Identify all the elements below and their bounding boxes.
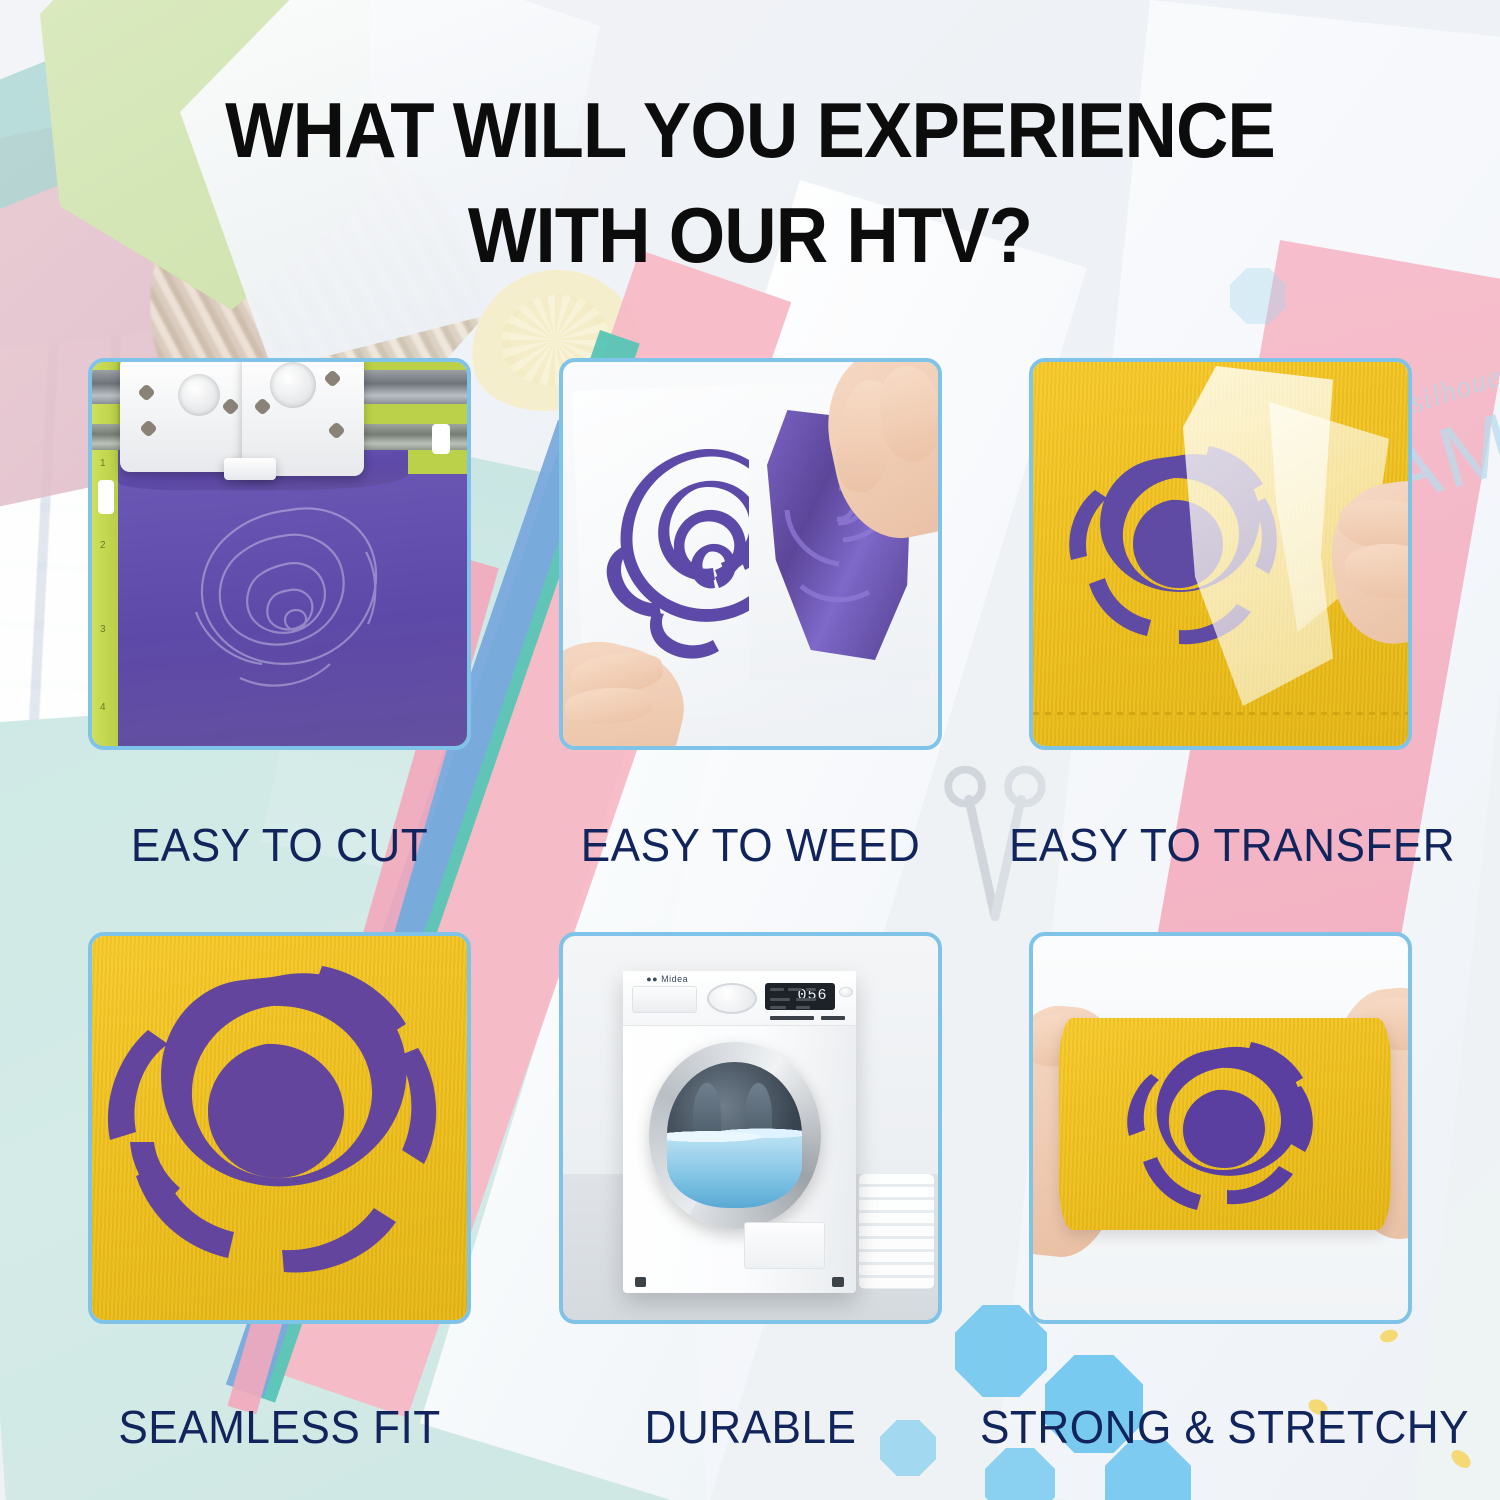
carriage-screw — [221, 397, 239, 415]
shirt-hem-stitching — [1033, 712, 1408, 715]
rail-clamp — [432, 424, 450, 454]
rose-design-closeup — [100, 952, 466, 1312]
program-dial — [707, 983, 758, 1014]
blade-holder-knob — [178, 374, 220, 416]
pen-holder-knob — [270, 362, 316, 408]
feature-image-seamless-fit — [88, 932, 471, 1324]
infographic-root: silhouette AM WHAT WILL YOU EXPERIENCE W… — [0, 0, 1500, 1500]
washing-machine-body: ●● Midea 056 — [623, 971, 856, 1294]
feature-caption-easy-to-cut: EASY TO CUT — [96, 818, 464, 872]
feature-caption-strong-stretchy: STRONG & STRETCHY — [980, 1400, 1460, 1454]
carriage-screw — [139, 419, 157, 437]
washer-brand-logo: ●● Midea — [646, 974, 688, 984]
washer-control-panel: ●● Midea 056 — [623, 971, 856, 1027]
folded-towels — [859, 1174, 934, 1289]
feature-image-easy-to-transfer — [1029, 358, 1412, 750]
feature-image-easy-to-cut: 12 34 — [88, 358, 471, 750]
feature-caption-seamless-fit: SEAMLESS FIT — [96, 1400, 464, 1454]
stretched-fabric-band — [1059, 1018, 1391, 1230]
feature-grid: 12 34 — [0, 0, 1500, 1500]
feature-image-easy-to-weed — [559, 358, 942, 750]
drum-water — [667, 1133, 801, 1208]
rose-design-stretched — [1123, 1038, 1333, 1218]
rail-stop — [98, 480, 114, 514]
feature-caption-durable: DURABLE — [567, 1400, 935, 1454]
detergent-drawer — [632, 986, 697, 1013]
feature-caption-easy-to-transfer: EASY TO TRANSFER — [1009, 818, 1441, 872]
washer-door[interactable] — [649, 1042, 821, 1229]
carriage-screw — [137, 383, 155, 401]
mat-ruler: 12 34 — [92, 362, 120, 746]
cutter-carriage-left — [120, 358, 252, 472]
washer-display: 056 — [765, 983, 835, 1010]
feature-caption-easy-to-weed: EASY TO WEED — [567, 818, 935, 872]
carriage-screw — [323, 369, 341, 387]
washer-foot — [832, 1277, 844, 1287]
rose-cut-outline — [170, 492, 410, 702]
feature-image-strong-stretchy — [1029, 932, 1412, 1324]
carriage-screw — [327, 421, 345, 439]
blade-tip — [224, 458, 276, 480]
power-button[interactable] — [839, 987, 853, 997]
carriage-screw — [253, 397, 271, 415]
filter-hatch[interactable] — [744, 1222, 825, 1269]
feature-image-durable: ●● Midea 056 — [559, 932, 942, 1324]
washer-foot — [635, 1277, 647, 1287]
